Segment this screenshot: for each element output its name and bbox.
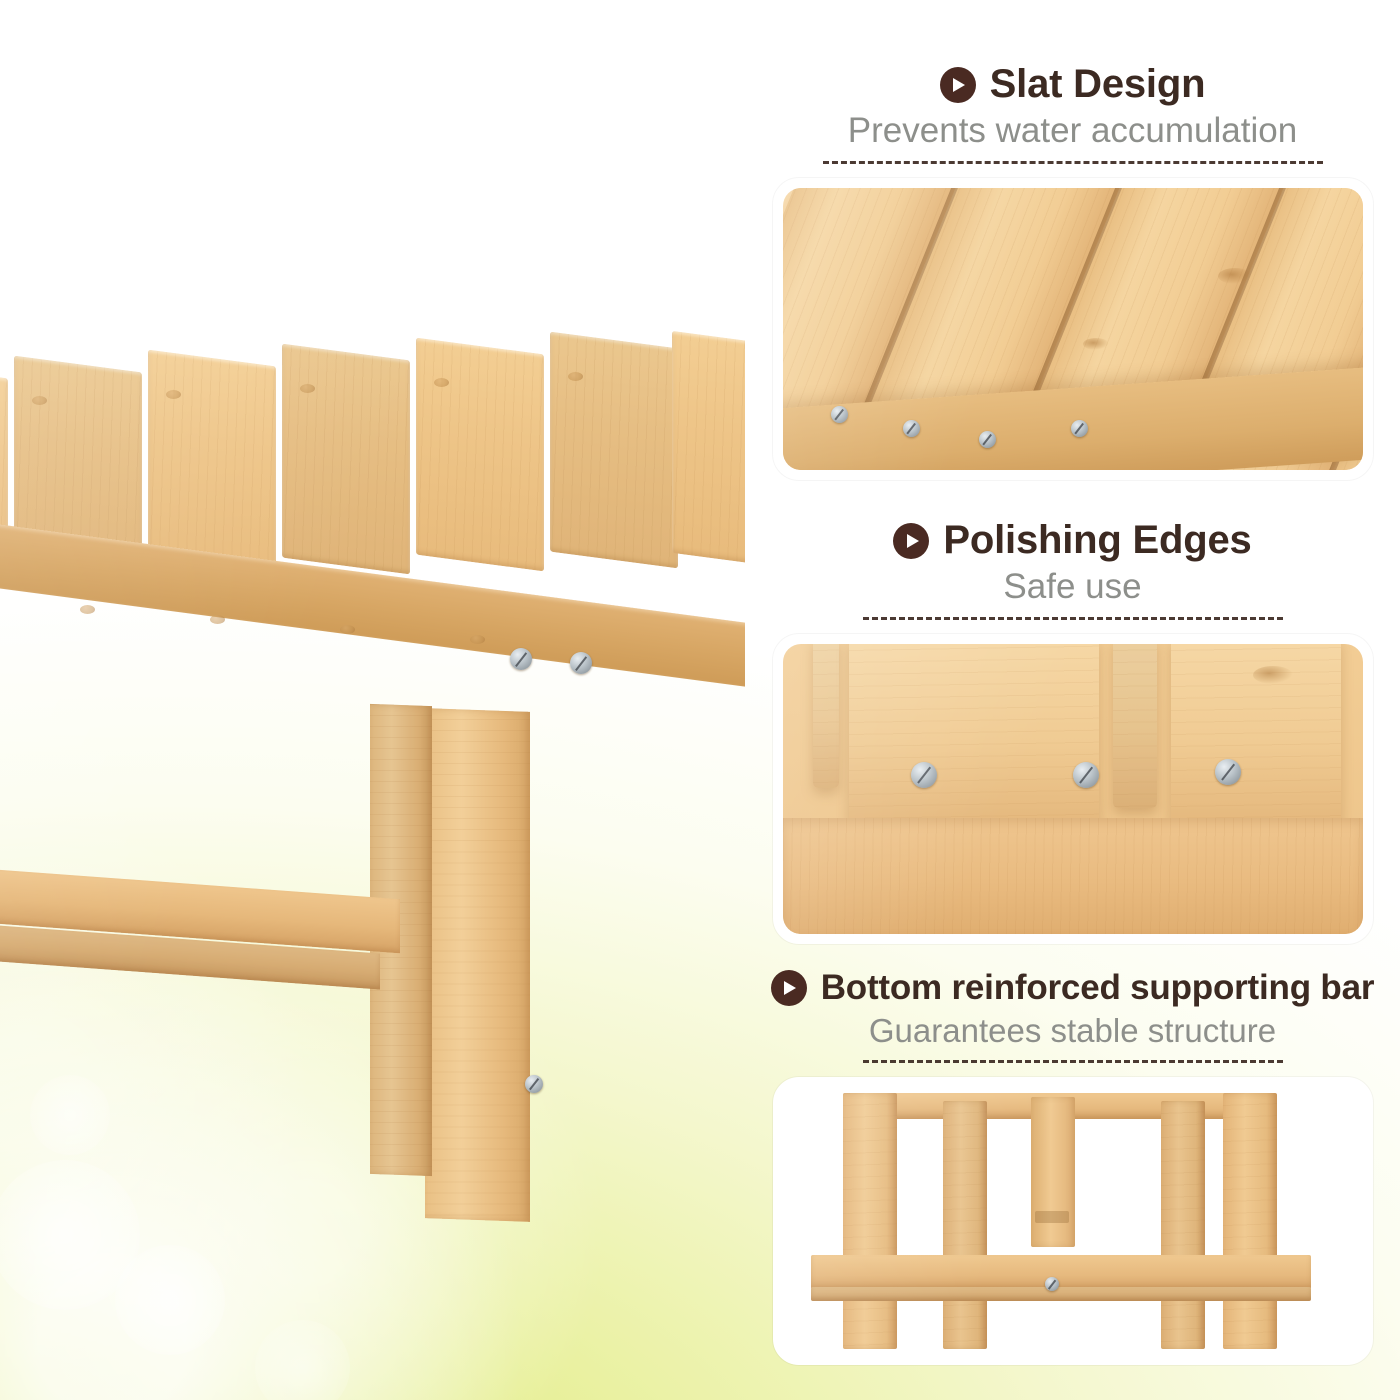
play-triangle-icon xyxy=(940,67,976,103)
marketing-image-canvas: Slat Design Prevents water accumulation xyxy=(0,0,1400,1400)
wood-peg xyxy=(80,605,95,614)
feature-title: Polishing Edges xyxy=(943,518,1251,563)
bench-illustration xyxy=(0,330,745,1330)
divider-dashed xyxy=(863,1060,1283,1063)
play-triangle-icon xyxy=(893,523,929,559)
wood-peg xyxy=(434,378,449,387)
product-photo xyxy=(0,0,745,1400)
screw-icon xyxy=(1071,420,1088,437)
divider-dashed xyxy=(823,161,1323,164)
feature-heading-row: Slat Design xyxy=(745,62,1400,107)
feature-polishing-edges: Polishing Edges Safe use xyxy=(745,518,1400,944)
feature-callout-column: Slat Design Prevents water accumulation xyxy=(745,0,1400,1400)
feature-slat-design: Slat Design Prevents water accumulation xyxy=(745,62,1400,480)
screw-icon xyxy=(831,406,848,423)
wood-peg xyxy=(300,384,315,393)
screw-icon xyxy=(911,762,937,788)
screw-icon xyxy=(525,1075,543,1093)
screw-icon xyxy=(1073,762,1099,788)
feature-subtitle: Guarantees stable structure xyxy=(745,1012,1400,1050)
seat-slat xyxy=(416,338,544,572)
wood-peg xyxy=(210,615,225,624)
feature-bottom-support-bar: Bottom reinforced supporting bar Guarant… xyxy=(745,968,1400,1365)
screw-icon xyxy=(570,652,592,674)
seat-slat xyxy=(282,344,410,575)
divider-dashed xyxy=(863,617,1283,620)
feature-photo-support-bar xyxy=(773,1077,1373,1365)
feature-subtitle: Safe use xyxy=(745,567,1400,607)
wood-peg xyxy=(166,390,181,399)
bench-seat xyxy=(0,330,745,660)
seat-slat xyxy=(550,332,678,569)
screw-icon xyxy=(510,648,532,670)
screw-icon xyxy=(1045,1277,1059,1291)
feature-subtitle: Prevents water accumulation xyxy=(745,111,1400,151)
feature-title: Bottom reinforced supporting bar xyxy=(821,968,1375,1008)
feature-photo-inner xyxy=(783,644,1363,934)
feature-photo-slat-design xyxy=(773,178,1373,480)
feature-heading-row: Polishing Edges xyxy=(745,518,1400,563)
seat-slat xyxy=(672,331,745,563)
wood-peg xyxy=(568,372,583,381)
play-triangle-icon xyxy=(771,970,807,1006)
wood-peg xyxy=(470,635,485,644)
feature-heading-row: Bottom reinforced supporting bar xyxy=(745,968,1400,1008)
feature-photo-inner xyxy=(783,188,1363,470)
feature-photo-inner xyxy=(783,1087,1363,1355)
bench-leg-front xyxy=(425,708,530,1222)
stamp-label xyxy=(1035,1211,1069,1223)
feature-photo-polishing-edges xyxy=(773,634,1373,944)
screw-icon xyxy=(979,431,996,448)
screw-icon xyxy=(903,420,920,437)
screw-icon xyxy=(1215,759,1241,785)
seat-slat xyxy=(148,350,276,578)
feature-title: Slat Design xyxy=(990,62,1206,107)
wood-peg xyxy=(340,625,355,634)
wood-peg xyxy=(32,396,47,405)
